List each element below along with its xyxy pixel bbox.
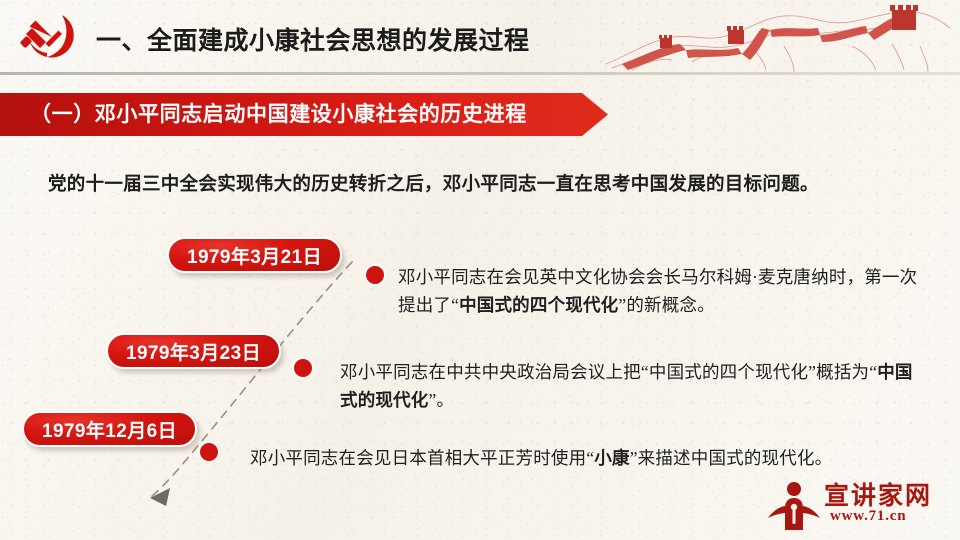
timeline-text-3: 邓小平同志在会见日本首相大平正芳时使用“小康”来描述中国式的现代化。 xyxy=(250,444,922,472)
slide-header: 一、全面建成小康社会思想的发展过程 xyxy=(0,0,960,74)
hammer-sickle-emblem-icon xyxy=(16,10,86,64)
timeline-text-1: 邓小平同志在会见英中文化协会会长马尔科姆·麦克唐纳时，第一次提出了“中国式的四个… xyxy=(398,263,918,320)
watermark-url: www.71.cn xyxy=(830,508,906,525)
timeline-date-pill-2[interactable]: 1979年3月23日 xyxy=(106,333,281,369)
watermark-logo: 宣讲家网 www.71.cn xyxy=(760,474,950,536)
curve-arrowhead-icon xyxy=(150,488,170,506)
timeline-date-label-3: 1979年12月6日 xyxy=(42,416,177,443)
great-wall-illustration-icon xyxy=(602,2,952,74)
lead-paragraph: 党的十一届三中全会实现伟大的历史转折之后，邓小平同志一直在思考中国发展的目标问题… xyxy=(48,172,928,200)
page-title: 一、全面建成小康社会思想的发展过程 xyxy=(96,21,530,57)
timeline-date-label-2: 1979年3月23日 xyxy=(126,338,261,365)
header-divider xyxy=(0,72,960,75)
speaker-silhouette-logo-icon xyxy=(766,480,822,532)
section-banner: （一）邓小平同志启动中国建设小康社会的历史进程 xyxy=(0,93,608,136)
section-banner-label: （一）邓小平同志启动中国建设小康社会的历史进程 xyxy=(30,93,527,136)
timeline-date-pill-1[interactable]: 1979年3月21日 xyxy=(167,237,342,273)
timeline-text-2: 邓小平同志在中共中央政治局会议上把“中国式的四个现代化”概括为“中国式的现代化”… xyxy=(340,358,926,415)
watermark-name: 宣讲家网 xyxy=(824,476,932,512)
timeline-dot-2-icon xyxy=(294,359,312,377)
timeline-date-label-1: 1979年3月21日 xyxy=(187,242,322,269)
timeline-dot-3-icon xyxy=(200,443,218,461)
timeline-dot-1-icon xyxy=(366,266,384,284)
timeline-date-pill-3[interactable]: 1979年12月6日 xyxy=(22,411,197,447)
slide-canvas: 一、全面建成小康社会思想的发展过程 xyxy=(0,0,960,540)
